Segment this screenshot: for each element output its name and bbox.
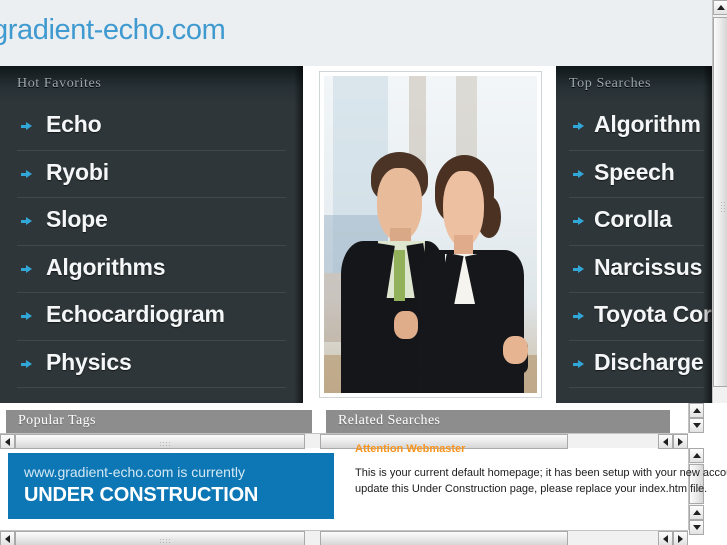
scroll-up-button[interactable] [689,403,704,418]
scroll-down-button[interactable] [689,520,704,535]
list-item[interactable]: Algorithms [17,246,286,294]
related-searches-header: Related Searches [326,410,670,433]
top-document-viewport: gradient-echo.com Hot Favorites Echo Ryo… [0,0,712,403]
webmaster-notice-title: Attention Webmaster [355,443,675,455]
arrow-bullet-icon [21,360,32,369]
hot-favorites-list: Echo Ryobi Slope Algorithms Echocardiogr… [0,103,303,388]
popular-tags-bottom-hscrollbar[interactable] [0,530,320,545]
webmaster-notice: Attention Webmaster This is your current… [355,443,675,519]
list-item[interactable]: Speech [569,151,704,199]
popular-tags-top-hscrollbar[interactable] [0,433,320,448]
list-item-label: Echo [46,111,101,138]
list-item[interactable]: Slope [17,198,286,246]
scroll-thumb-horizontal[interactable] [320,531,568,545]
scroll-thumb-horizontal[interactable] [15,531,305,545]
arrow-bullet-icon [573,170,584,179]
list-item[interactable]: Discharge [569,341,704,389]
top-searches-panel: Top Searches Algorithm Speech Corolla N [556,66,712,403]
arrow-bullet-icon [573,265,584,274]
list-item[interactable]: Echo [17,103,286,151]
arrow-bullet-icon [573,217,584,226]
list-item[interactable]: Physics [17,341,286,389]
list-item-label: Algorithm [594,111,701,138]
related-searches-bottom-hscrollbar[interactable] [320,530,688,545]
page-title: gradient-echo.com [0,14,225,47]
list-item-label: Algorithms [46,254,165,281]
hero-image [324,76,537,393]
popular-tags-header: Popular Tags [6,410,312,433]
scroll-left-button[interactable] [658,531,673,545]
list-item[interactable]: Algorithm [569,103,704,151]
webmaster-notice-line1: This is your current default homepage; i… [355,465,675,481]
scroll-right-button[interactable] [673,434,688,449]
list-item[interactable]: Toyota Corolla [569,293,704,341]
hero-image-frame [319,71,542,398]
list-item-label: Narcissus [594,254,702,281]
scroll-thumb-horizontal[interactable] [15,434,305,449]
list-item-label: Physics [46,349,132,376]
webmaster-notice-line2: update this Under Construction page, ple… [355,481,675,497]
list-item-label: Speech [594,159,675,186]
list-item-label: Slope [46,206,108,233]
arrow-bullet-icon [573,360,584,369]
scroll-up-button[interactable] [713,0,727,15]
list-item[interactable]: Narcissus [569,246,704,294]
hot-favorites-header: Hot Favorites [0,66,303,103]
list-item-label: Toyota Corolla [594,301,712,328]
list-item[interactable]: Ryobi [17,151,286,199]
arrow-bullet-icon [21,122,32,131]
under-construction-line1: www.gradient-echo.com is currently [24,464,245,480]
scroll-thumb-vertical[interactable] [713,17,727,387]
arrow-bullet-icon [21,312,32,321]
hot-favorites-header-label: Hot Favorites [17,76,101,92]
scroll-left-button[interactable] [0,434,15,449]
arrow-bullet-icon [573,312,584,321]
under-construction-banner: www.gradient-echo.com is currently UNDER… [8,453,334,519]
top-searches-header-label: Top Searches [569,76,651,92]
list-item-label: Echocardiogram [46,301,225,328]
arrow-bullet-icon [21,217,32,226]
under-construction-line2: UNDER CONSTRUCTION [24,484,258,507]
list-item[interactable]: Corolla [569,198,704,246]
related-searches-header-vscrollbar[interactable] [688,403,703,433]
scroll-left-button[interactable] [0,531,15,545]
list-item[interactable]: Echocardiogram [17,293,286,341]
scroll-up-button-secondary[interactable] [689,505,704,520]
list-item-label: Ryobi [46,159,109,186]
related-searches-header-label: Related Searches [338,413,440,429]
main-vertical-scrollbar[interactable] [712,0,727,403]
top-searches-header: Top Searches [556,66,712,103]
list-item-label: Discharge [594,349,703,376]
arrow-bullet-icon [21,170,32,179]
scroll-down-button[interactable] [689,418,704,433]
popular-tags-header-label: Popular Tags [18,413,96,429]
hot-favorites-panel: Hot Favorites Echo Ryobi Slope Algorith [0,66,303,403]
scroll-right-button[interactable] [673,531,688,545]
scroll-up-button[interactable] [689,448,704,463]
top-searches-list: Algorithm Speech Corolla Narcissus Toyot… [556,103,712,388]
arrow-bullet-icon [21,265,32,274]
list-item-label: Corolla [594,206,672,233]
main-content-band: Hot Favorites Echo Ryobi Slope Algorith [0,66,712,403]
arrow-bullet-icon [573,122,584,131]
